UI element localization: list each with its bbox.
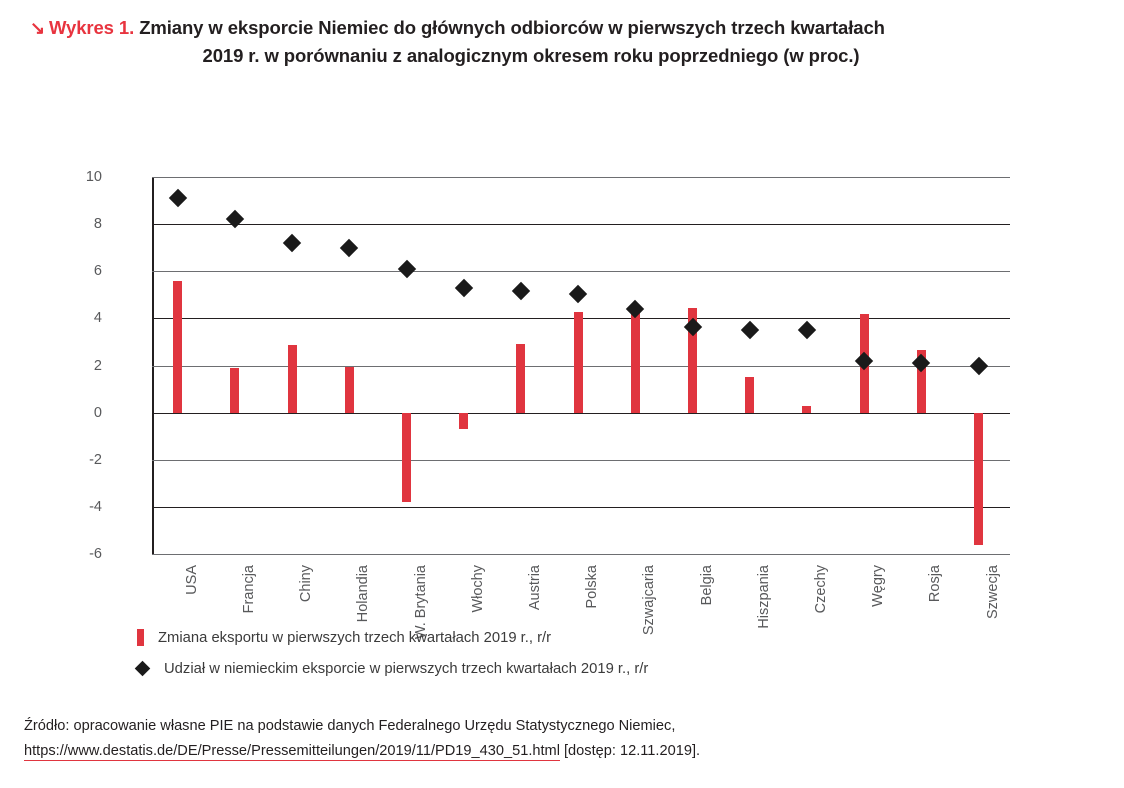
y-tick-label--4: -4 [42,499,102,515]
bar-USA [173,281,182,413]
diamond-marker-USA [169,189,187,207]
bar-Szwajcaria [631,312,640,412]
diamond-marker-W. Brytania [397,260,415,278]
gridline-10 [152,177,1010,178]
gridline--4 [152,507,1010,508]
y-tick-label--2: -2 [42,452,102,468]
bar-Włochy [459,413,468,429]
diamond-marker-Austria [512,282,530,300]
bar-swatch-icon [137,629,144,646]
bar-Polska [574,312,583,412]
diamond-swatch-icon [135,661,151,677]
x-tick-label-Austria: Austria [527,565,543,610]
legend-label-bar: Zmiana eksportu w pierwszych trzech kwar… [158,630,551,646]
x-tick-label-Hiszpania: Hiszpania [756,565,772,629]
legend-label-diamond: Udział w niemieckim eksporcie w pierwszy… [164,661,648,677]
legend-item-diamond: Udział w niemieckim eksporcie w pierwszy… [137,653,1037,684]
y-tick-label-6: 6 [42,263,102,279]
bar-Szwecja [974,413,983,545]
gridline-0 [152,413,1010,415]
diamond-marker-Polska [569,284,587,302]
bar-Austria [516,344,525,412]
diamond-marker-Belgia [683,317,701,335]
x-tick-label-Polska: Polska [584,565,600,609]
diamond-marker-Szwajcaria [626,300,644,318]
chart-title-line-2: 2019 r. w porównaniu z analogicznym okre… [28,42,1084,69]
diamond-marker-Hiszpania [741,321,759,339]
bar-Holandia [345,367,354,413]
bar-Francja [230,368,239,413]
diamond-marker-Holandia [340,238,358,256]
x-tick-label-Chiny: Chiny [298,565,314,602]
chart-title-block: ↘Wykres 1. Zmiany w eksporcie Niemiec do… [0,0,1124,69]
diamond-marker-Francja [226,210,244,228]
diamond-marker-Chiny [283,234,301,252]
plot-area [152,177,1010,554]
y-tick-label-10: 10 [42,169,102,185]
chart-legend: Zmiana eksportu w pierwszych trzech kwar… [137,622,1037,684]
gridline--2 [152,460,1010,461]
x-tick-label-Rosja: Rosja [927,565,943,602]
x-tick-label-Węgry: Węgry [870,565,886,607]
diamond-marker-Włochy [455,279,473,297]
chart-canvas: 1086420-2-4-6 USAFrancjaChinyHolandiaW. … [0,69,1124,589]
x-tick-label-Holandia: Holandia [355,565,371,622]
x-tick-label-Włochy: Włochy [470,565,486,613]
x-tick-label-USA: USA [184,565,200,595]
y-tick-label-2: 2 [42,358,102,374]
chart-number-kicker: Wykres 1. [49,17,134,38]
gridline-8 [152,224,1010,225]
source-url-link[interactable]: https://www.destatis.de/DE/Presse/Presse… [24,743,560,761]
bar-W. Brytania [402,413,411,503]
x-tick-label-Francja: Francja [241,565,257,613]
diamond-marker-Szwecja [969,356,987,374]
diamond-marker-Węgry [855,352,873,370]
source-note: Źródło: opracowanie własne PIE na podsta… [24,714,1106,764]
y-tick-label-8: 8 [42,216,102,232]
chart-title-line-1: Zmiany w eksporcie Niemiec do głównych o… [139,17,885,38]
source-suffix: [dostęp: 12.11.2019]. [560,743,700,759]
source-prefix: Źródło: opracowanie własne PIE na podsta… [24,718,675,734]
legend-item-bar: Zmiana eksportu w pierwszych trzech kwar… [137,622,1037,653]
x-tick-label-Czechy: Czechy [813,565,829,613]
bar-Czechy [802,406,811,413]
y-tick-label-0: 0 [42,405,102,421]
x-tick-label-Belgia: Belgia [699,565,715,605]
diamond-marker-Czechy [798,321,816,339]
gridline--6 [152,554,1010,555]
y-tick-label-4: 4 [42,310,102,326]
y-tick-label--6: -6 [42,546,102,562]
bar-Chiny [288,345,297,412]
arrow-down-right-icon: ↘ [30,18,49,38]
gridline-6 [152,271,1010,272]
bar-Hiszpania [745,377,754,412]
diamond-marker-Rosja [912,354,930,372]
page-title: ↘Wykres 1. Zmiany w eksporcie Niemiec do… [28,14,1084,42]
x-tick-label-Szwecja: Szwecja [985,565,1001,619]
